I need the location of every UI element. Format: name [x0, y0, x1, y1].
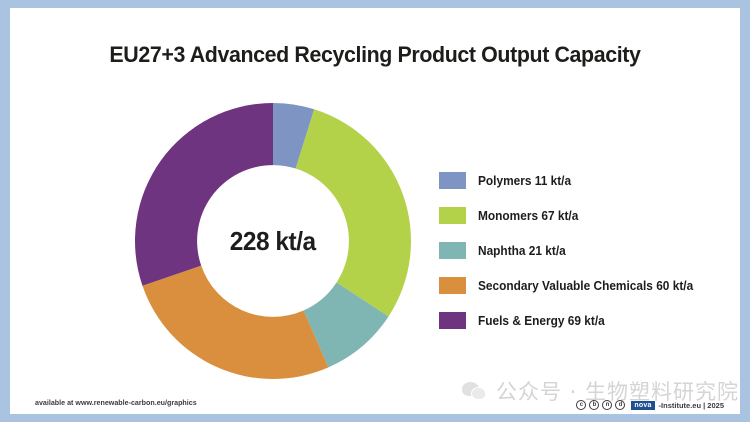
legend-label: Fuels & Energy 69 kt/a — [478, 314, 605, 328]
credit-line: c b n d nova -Institute.eu | 2025 — [576, 400, 724, 410]
donut-svg — [128, 100, 418, 382]
legend-item: Polymers 11 kt/a — [439, 163, 739, 198]
donut-slice — [296, 109, 411, 316]
image-border: EU27+3 Advanced Recycling Product Output… — [0, 0, 750, 422]
donut-slice — [135, 103, 273, 286]
legend-swatch — [439, 172, 466, 189]
legend-label: Secondary Valuable Chemicals 60 kt/a — [478, 279, 693, 293]
legend-label: Polymers 11 kt/a — [478, 174, 571, 188]
legend-swatch — [439, 277, 466, 294]
legend-label: Monomers 67 kt/a — [478, 209, 578, 223]
donut-slice — [142, 266, 328, 379]
credit-text: -Institute.eu | 2025 — [659, 401, 724, 410]
wechat-icon — [462, 381, 488, 401]
legend-item: Fuels & Energy 69 kt/a — [439, 303, 739, 338]
cc-nd-icon: d — [615, 400, 625, 410]
cc-nc-icon: n — [602, 400, 612, 410]
legend-swatch — [439, 312, 466, 329]
source-note: available at www.renewable-carbon.eu/gra… — [35, 398, 197, 407]
legend-item: Monomers 67 kt/a — [439, 198, 739, 233]
legend-swatch — [439, 242, 466, 259]
page-title: EU27+3 Advanced Recycling Product Output… — [28, 42, 722, 68]
cc-icon: c — [576, 400, 586, 410]
cc-by-icon: b — [589, 400, 599, 410]
legend-item: Naphtha 21 kt/a — [439, 233, 739, 268]
chart-card: EU27+3 Advanced Recycling Product Output… — [10, 8, 740, 414]
legend-swatch — [439, 207, 466, 224]
legend-label: Naphtha 21 kt/a — [478, 244, 566, 258]
legend-item: Secondary Valuable Chemicals 60 kt/a — [439, 268, 739, 303]
chart-legend: Polymers 11 kt/aMonomers 67 kt/aNaphtha … — [439, 163, 739, 338]
nova-logo: nova — [631, 401, 654, 410]
donut-chart: 228 kt/a — [128, 100, 418, 382]
